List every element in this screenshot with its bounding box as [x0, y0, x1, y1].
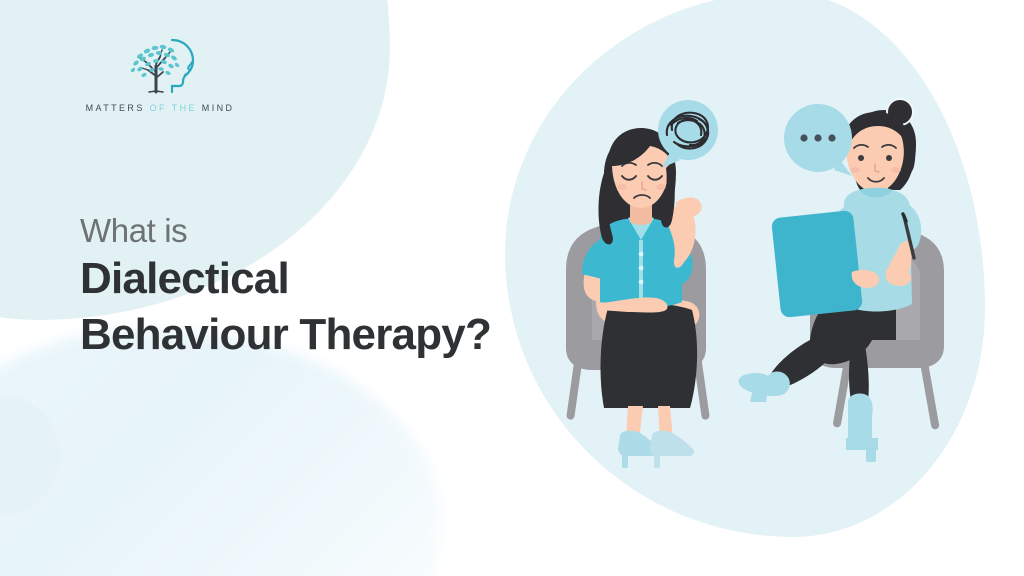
therapist-eye-right	[886, 155, 892, 161]
headline-lead: What is	[80, 212, 491, 250]
headline-line-2: Behaviour Therapy?	[80, 308, 491, 362]
brand-wordmark: MATTERS OF THE MIND	[60, 103, 260, 113]
therapist-clipboard	[771, 210, 863, 318]
therapist-eye-left	[858, 155, 864, 161]
client-cheek-right	[656, 184, 666, 190]
brand-word-2: OF THE	[150, 103, 197, 113]
client-hand-right	[676, 198, 702, 217]
therapist-cheek-right	[891, 167, 901, 173]
speech-dot-3	[828, 134, 835, 141]
client-figure	[566, 100, 718, 468]
speech-dot-2	[814, 134, 821, 141]
client-button	[639, 266, 644, 271]
client-button	[639, 252, 644, 257]
client-skirt	[601, 303, 698, 408]
client-button	[639, 280, 644, 285]
blob-bottom-left-shape	[0, 330, 440, 576]
ellipsis-speech-bubble	[784, 104, 852, 176]
headline-line-1: Dialectical	[80, 252, 491, 306]
page-title: What is Dialectical Behaviour Therapy?	[80, 212, 491, 362]
therapist-figure	[739, 99, 944, 462]
brand-word-3: MIND	[202, 103, 235, 113]
therapy-scene-svg	[500, 90, 1000, 480]
client-cheek-left	[617, 184, 627, 190]
brand-logo[interactable]: MATTERS OF THE MIND	[60, 32, 260, 113]
slide-canvas: MATTERS OF THE MIND What is Dialectical …	[0, 0, 1024, 576]
tree-head-profile-icon	[110, 32, 210, 94]
client-shoes	[618, 431, 694, 468]
speech-dot-1	[800, 134, 807, 141]
brand-word-1: MATTERS	[86, 103, 145, 113]
therapy-session-illustration	[500, 90, 1000, 480]
therapist-cheek-left	[850, 167, 860, 173]
